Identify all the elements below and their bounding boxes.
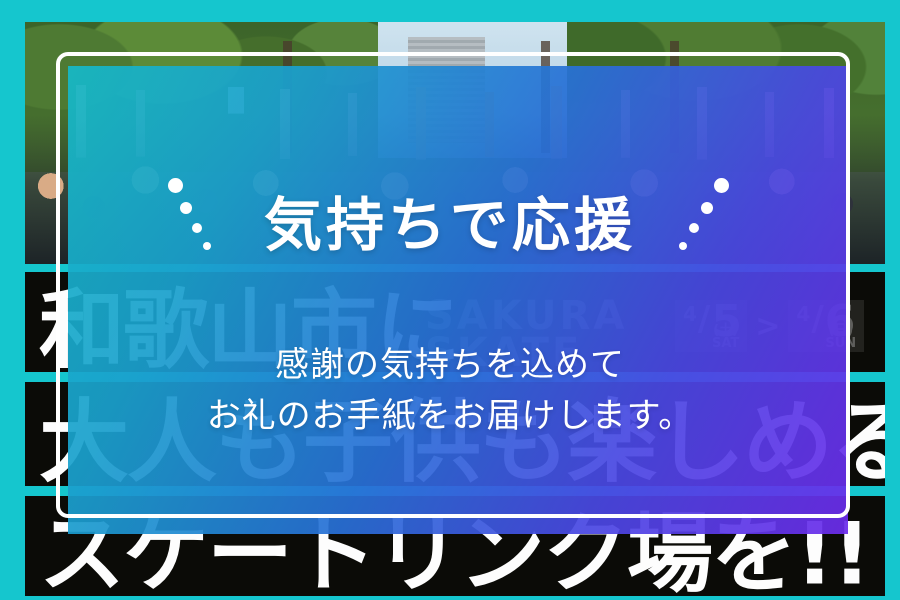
overlay-body-copy: 感謝の気持ちを込めて お礼のお手紙をお届けします。 — [0, 340, 900, 442]
overlay-body-line-2: お礼のお手紙をお届けします。 — [0, 391, 900, 442]
gradient-overlay — [68, 66, 848, 534]
overlay-body-line-1: 感謝の気持ちを込めて — [0, 340, 900, 391]
campaign-banner: 和歌山市に 大人も子供も楽しめる スケートリンク場を!! SAKURA SKAT… — [0, 0, 900, 600]
overlay-headline: 気持ちで応援 — [0, 178, 900, 262]
